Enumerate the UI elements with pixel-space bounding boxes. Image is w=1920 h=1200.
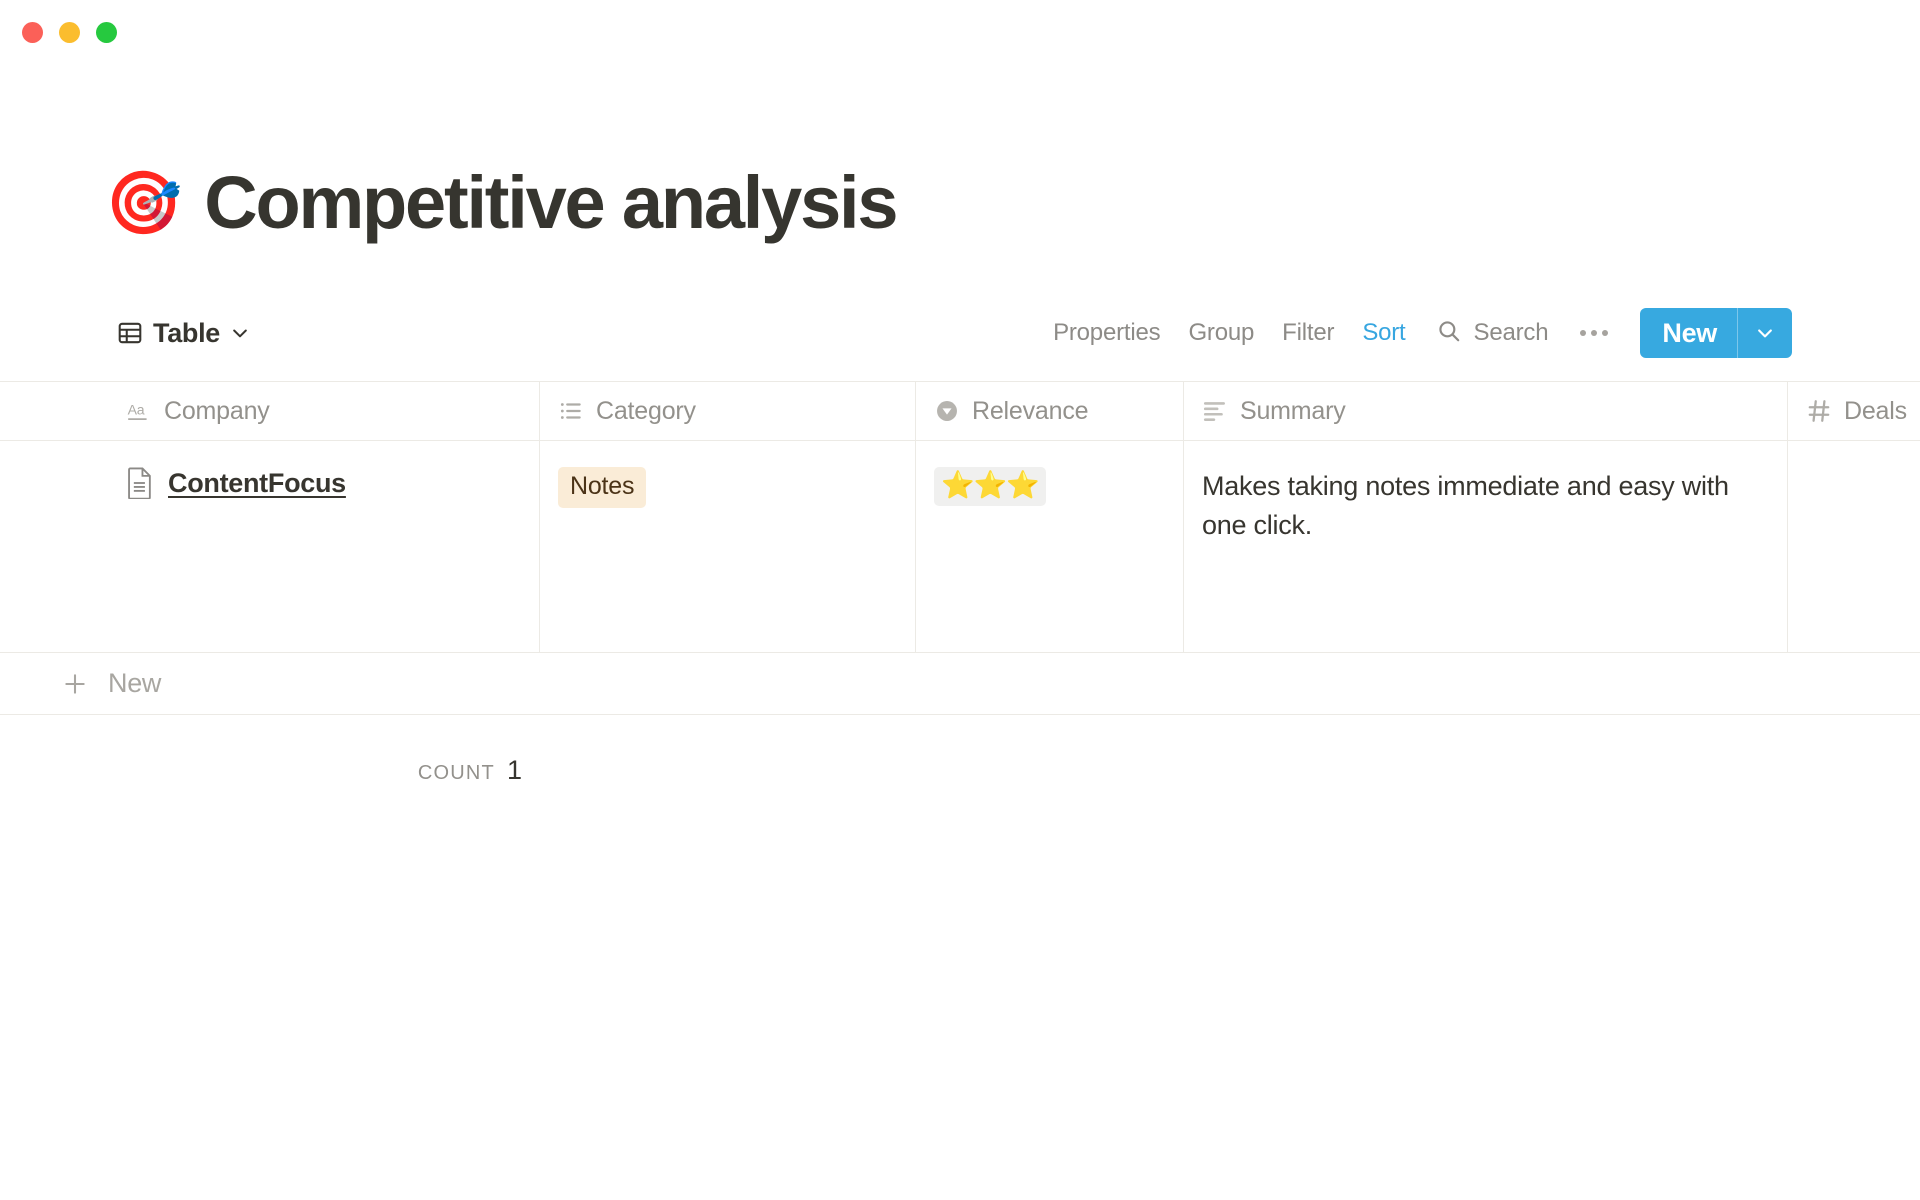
maximize-window-button[interactable] (96, 22, 117, 43)
cell-category[interactable]: Notes (540, 441, 916, 652)
select-circle-icon (934, 398, 960, 424)
number-hash-icon (1806, 398, 1832, 424)
column-header-deals[interactable]: Deals (1788, 382, 1920, 440)
cell-company[interactable]: ContentFocus (108, 441, 540, 652)
row-gutter (0, 382, 108, 440)
summary-text[interactable]: Makes taking notes immediate and easy wi… (1202, 467, 1769, 546)
add-new-row-label: New (108, 668, 161, 699)
table-header-row: Aa Company (0, 381, 1920, 441)
cell-summary[interactable]: Makes taking notes immediate and easy wi… (1184, 441, 1788, 652)
new-button[interactable]: New (1640, 308, 1737, 358)
column-header-company[interactable]: Aa Company (108, 382, 540, 440)
row-gutter (0, 441, 108, 652)
text-aa-icon: Aa (126, 398, 152, 424)
add-new-row-button[interactable]: New (0, 653, 1920, 715)
count-value: 1 (507, 755, 522, 786)
toolbar-sort-button[interactable]: Sort (1348, 311, 1419, 355)
plus-icon (0, 671, 108, 697)
column-header-summary[interactable]: Summary (1184, 382, 1788, 440)
database-table: Aa Company (0, 381, 1920, 715)
new-button-group[interactable]: New (1640, 308, 1792, 358)
column-header-category[interactable]: Category (540, 382, 916, 440)
table-footer-count[interactable]: COUNT 1 (0, 755, 540, 786)
chevron-down-icon (230, 323, 250, 343)
view-tab-table[interactable]: Table (117, 318, 250, 349)
ellipsis-icon[interactable] (1562, 322, 1626, 344)
cell-deals[interactable] (1788, 441, 1920, 652)
column-header-relevance[interactable]: Relevance (916, 382, 1184, 440)
company-name-link[interactable]: ContentFocus (168, 468, 346, 499)
search-icon (1436, 318, 1462, 349)
view-tab-label: Table (153, 318, 220, 349)
page-header: 🎯 Competitive analysis (105, 155, 1880, 251)
toolbar-search-button[interactable]: Search (1420, 310, 1563, 357)
count-label: COUNT (418, 762, 495, 785)
select-list-icon (558, 398, 584, 424)
bullseye-dart-icon[interactable]: 🎯 (105, 172, 182, 234)
table-grid-icon (117, 320, 143, 346)
column-header-label: Summary (1240, 397, 1346, 426)
minimize-window-button[interactable] (59, 22, 80, 43)
view-toolbar: Table Properties Group Filter Sort Searc… (0, 300, 1920, 366)
new-dropdown-button[interactable] (1738, 308, 1792, 358)
toolbar-actions: Properties Group Filter Sort Search New (1039, 308, 1920, 358)
column-header-label: Category (596, 397, 696, 426)
close-window-button[interactable] (22, 22, 43, 43)
window-controls (22, 22, 117, 43)
column-header-label: Company (164, 397, 270, 426)
category-tag[interactable]: Notes (558, 467, 646, 508)
toolbar-filter-button[interactable]: Filter (1268, 311, 1348, 355)
page-document-icon (126, 467, 154, 499)
column-header-label: Relevance (972, 397, 1088, 426)
svg-text:Aa: Aa (128, 401, 145, 417)
toolbar-properties-button[interactable]: Properties (1039, 311, 1174, 355)
toolbar-search-label: Search (1474, 319, 1549, 347)
text-lines-icon (1202, 398, 1228, 424)
ellipsis-dot (1591, 330, 1597, 336)
cell-relevance[interactable]: ⭐⭐⭐ (916, 441, 1184, 652)
page-title[interactable]: Competitive analysis (204, 166, 896, 240)
table-row[interactable]: ContentFocus Notes ⭐⭐⭐ Makes taking note… (0, 441, 1920, 653)
toolbar-group-button[interactable]: Group (1174, 311, 1268, 355)
column-header-label: Deals (1844, 397, 1907, 426)
relevance-stars-tag[interactable]: ⭐⭐⭐ (934, 467, 1046, 506)
ellipsis-dot (1580, 330, 1586, 336)
ellipsis-dot (1602, 330, 1608, 336)
